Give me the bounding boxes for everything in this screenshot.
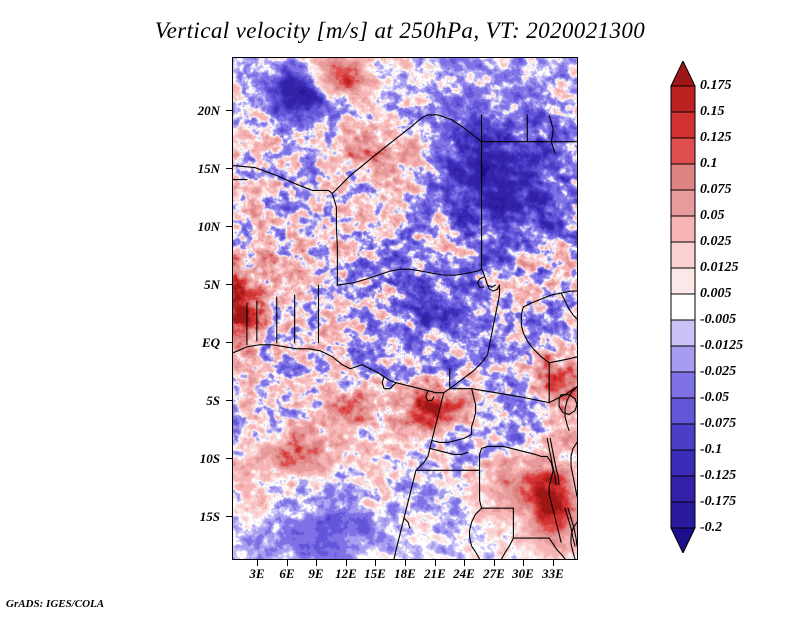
lat-tick-5N (226, 284, 232, 285)
colorbar-label-3: 0.1 (700, 157, 718, 171)
map-plot-area[interactable] (232, 57, 578, 560)
lon-label-10: 33E (533, 566, 573, 582)
lat-tick-5S (226, 400, 232, 401)
colorbar-label-17: -0.2 (700, 521, 722, 535)
lat-tick-20N (226, 110, 232, 111)
colorbar-label-7: 0.0125 (700, 261, 739, 275)
colorbar-label-5: 0.05 (700, 209, 725, 223)
colorbar-label-8: 0.005 (700, 287, 732, 301)
footer-credit: GrADS: IGES/COLA (6, 598, 104, 610)
lat-label-4: EQ (160, 335, 220, 351)
lat-tick-15S (226, 516, 232, 517)
colorbar-label-4: 0.075 (700, 183, 732, 197)
lat-tick-10S (226, 458, 232, 459)
colorbar-label-6: 0.025 (700, 235, 732, 249)
colorbar-swatches (670, 61, 696, 553)
colorbar-label-11: -0.025 (700, 365, 736, 379)
colorbar-label-0: 0.175 (700, 79, 732, 93)
colorbar-label-16: -0.175 (700, 495, 736, 509)
colorbar-label-12: -0.05 (700, 391, 729, 405)
colorbar-label-10: -0.0125 (700, 339, 743, 353)
lat-label-7: 15S (160, 509, 220, 525)
colorbar-label-15: -0.125 (700, 469, 736, 483)
colorbar-label-13: -0.075 (700, 417, 736, 431)
lat-label-3: 5N (160, 277, 220, 293)
colorbar-label-9: -0.005 (700, 313, 736, 327)
colorbar-label-1: 0.15 (700, 105, 725, 119)
lat-label-5: 5S (160, 393, 220, 409)
lat-tick-EQ (226, 342, 232, 343)
colorbar-label-14: -0.1 (700, 443, 722, 457)
page-title: Vertical velocity [m/s] at 250hPa, VT: 2… (0, 18, 800, 44)
lat-tick-10N (226, 226, 232, 227)
lat-label-6: 10S (160, 451, 220, 467)
colorbar[interactable] (670, 61, 696, 553)
lat-label-1: 15N (160, 161, 220, 177)
lat-label-2: 10N (160, 219, 220, 235)
colorbar-label-2: 0.125 (700, 131, 732, 145)
vertical-velocity-heatmap (233, 58, 577, 559)
lat-tick-15N (226, 168, 232, 169)
lat-label-0: 20N (160, 103, 220, 119)
